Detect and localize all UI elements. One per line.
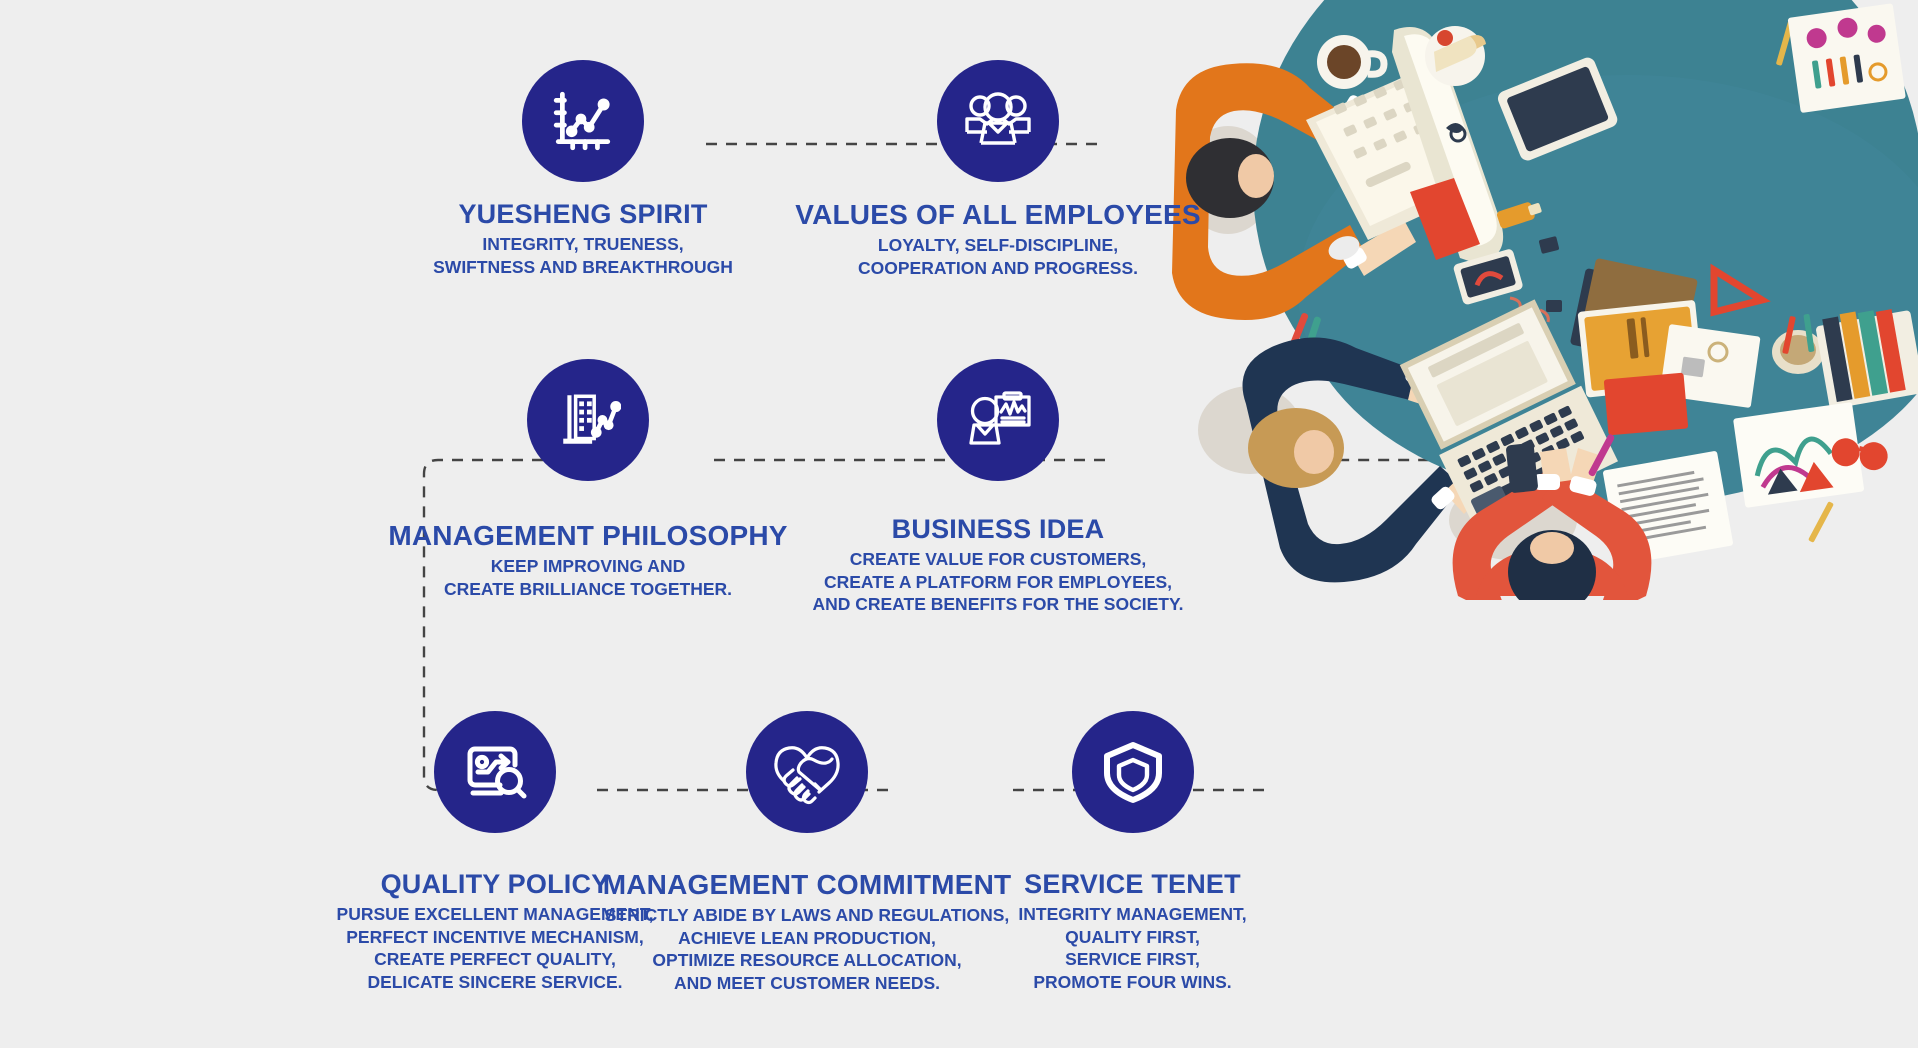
- node-subtitle-line: KEEP IMPROVING AND: [444, 555, 732, 577]
- node-service-tenet[interactable]: SERVICE TENET INTEGRITY MANAGEMENT, QUAL…: [1000, 711, 1265, 993]
- node-subtitle: LOYALTY, SELF-DISCIPLINE, COOPERATION AN…: [858, 234, 1138, 279]
- node-management-commitment[interactable]: MANAGEMENT COMMITMENT STRICTLY ABIDE BY …: [642, 711, 972, 994]
- node-yuesheng-spirit[interactable]: YUESHENG SPIRIT INTEGRITY, TRUENESS, SWI…: [443, 60, 723, 278]
- three-people-icon: [963, 86, 1033, 156]
- node-subtitle-line: STRICTLY ABIDE BY LAWS AND REGULATIONS,: [605, 904, 1009, 926]
- node-subtitle: INTEGRITY MANAGEMENT, QUALITY FIRST, SER…: [1018, 903, 1246, 993]
- node-management-philosophy[interactable]: MANAGEMENT PHILOSOPHY KEEP IMPROVING AND…: [443, 359, 733, 600]
- node-subtitle-line: CREATE VALUE FOR CUSTOMERS,: [812, 548, 1183, 570]
- node-subtitle-line: OPTIMIZE RESOURCE ALLOCATION,: [605, 949, 1009, 971]
- shield-icon: [1099, 738, 1167, 806]
- office-teamwork-illustration: [1158, 0, 1918, 600]
- node-title: MANAGEMENT PHILOSOPHY: [388, 521, 787, 550]
- philosophy-icon-circle[interactable]: [527, 359, 649, 481]
- line-chart-icon: [550, 88, 616, 154]
- node-business-idea[interactable]: BUSINESS IDEA CREATE VALUE FOR CUSTOMERS…: [838, 359, 1158, 616]
- service-tenet-icon-circle[interactable]: [1072, 711, 1194, 833]
- node-title: QUALITY POLICY: [381, 870, 610, 898]
- node-subtitle-line: SERVICE FIRST,: [1018, 948, 1246, 970]
- node-subtitle-line: LOYALTY, SELF-DISCIPLINE,: [858, 234, 1138, 256]
- infographic-canvas: YUESHENG SPIRIT INTEGRITY, TRUENESS, SWI…: [0, 0, 1918, 1048]
- node-subtitle-line: PROMOTE FOUR WINS.: [1018, 971, 1246, 993]
- node-subtitle-line: AND CREATE BENEFITS FOR THE SOCIETY.: [812, 593, 1183, 615]
- business-idea-icon-circle[interactable]: [937, 359, 1059, 481]
- node-subtitle: CREATE VALUE FOR CUSTOMERS, CREATE A PLA…: [812, 548, 1183, 615]
- node-title: MANAGEMENT COMMITMENT: [603, 870, 1012, 899]
- node-subtitle-line: CREATE A PLATFORM FOR EMPLOYEES,: [812, 571, 1183, 593]
- node-title: VALUES OF ALL EMPLOYEES: [795, 200, 1200, 229]
- node-subtitle-line: COOPERATION AND PROGRESS.: [858, 257, 1138, 279]
- commitment-icon-circle[interactable]: [746, 711, 868, 833]
- node-quality-policy[interactable]: QUALITY POLICY PURSUE EXCELLENT MANAGEME…: [360, 711, 630, 993]
- values-icon-circle[interactable]: [937, 60, 1059, 182]
- node-subtitle: INTEGRITY, TRUENESS, SWIFTNESS AND BREAK…: [433, 233, 733, 278]
- node-subtitle-line: INTEGRITY, TRUENESS,: [433, 233, 733, 255]
- screen-search-icon: [460, 737, 530, 807]
- node-values-of-all-employees[interactable]: VALUES OF ALL EMPLOYEES LOYALTY, SELF-DI…: [838, 60, 1158, 279]
- node-subtitle-line: INTEGRITY MANAGEMENT,: [1018, 903, 1246, 925]
- node-title: BUSINESS IDEA: [892, 515, 1105, 543]
- node-title: YUESHENG SPIRIT: [458, 200, 707, 228]
- quality-policy-icon-circle[interactable]: [434, 711, 556, 833]
- node-subtitle-line: QUALITY FIRST,: [1018, 926, 1246, 948]
- heart-handshake-icon: [771, 736, 843, 808]
- node-subtitle-line: AND MEET CUSTOMER NEEDS.: [605, 972, 1009, 994]
- node-subtitle: STRICTLY ABIDE BY LAWS AND REGULATIONS, …: [605, 904, 1009, 994]
- node-subtitle: KEEP IMPROVING AND CREATE BRILLIANCE TOG…: [444, 555, 732, 600]
- node-subtitle-line: CREATE BRILLIANCE TOGETHER.: [444, 578, 732, 600]
- node-title: SERVICE TENET: [1024, 870, 1241, 898]
- building-growth-icon: [555, 387, 621, 453]
- yuesheng-spirit-icon-circle[interactable]: [522, 60, 644, 182]
- node-subtitle-line: SWIFTNESS AND BREAKTHROUGH: [433, 256, 733, 278]
- node-subtitle-line: ACHIEVE LEAN PRODUCTION,: [605, 927, 1009, 949]
- presenter-chart-icon: [963, 385, 1033, 455]
